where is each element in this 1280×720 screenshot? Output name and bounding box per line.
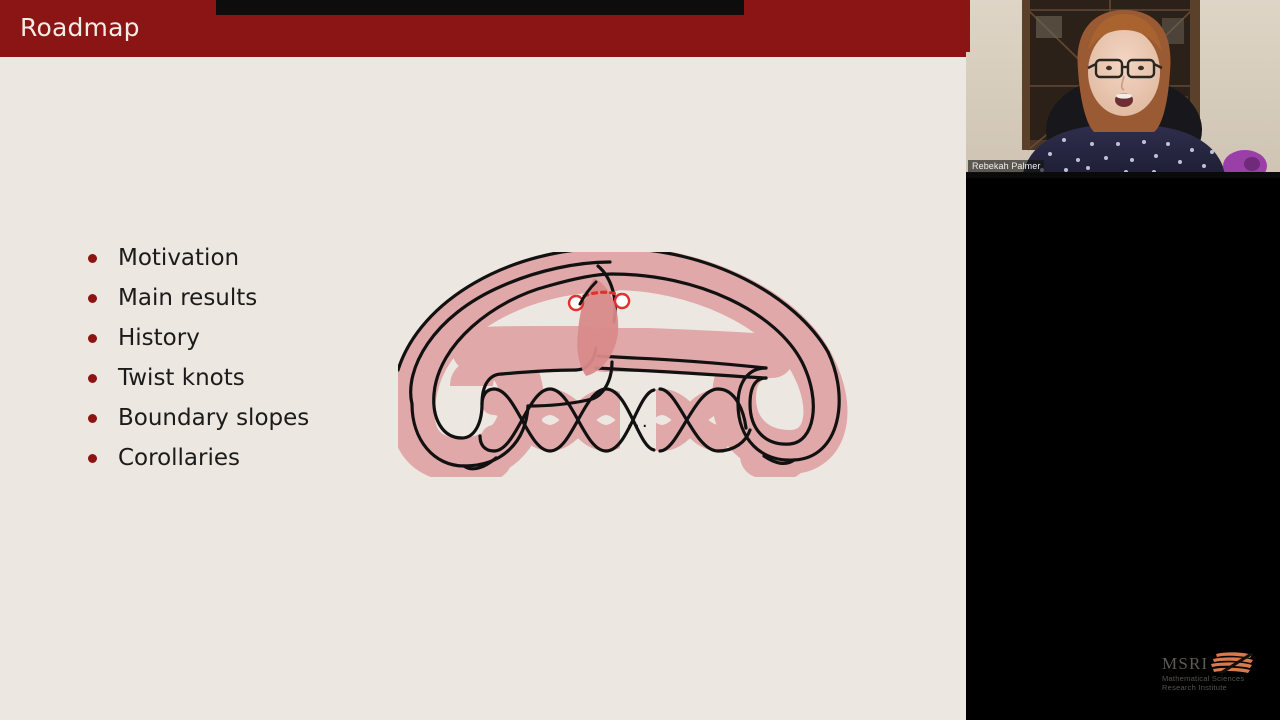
bullet-dot-icon xyxy=(88,414,97,423)
list-item: Motivation xyxy=(88,238,408,278)
msri-wordmark: MSRI xyxy=(1162,654,1208,674)
webcam-panel: Rebekah Palmer xyxy=(966,0,1280,720)
page-title: Roadmap xyxy=(20,13,140,42)
list-item: Corollaries xyxy=(88,438,408,478)
msri-subtitle-line2: Research Institute xyxy=(1162,683,1227,692)
msri-subtitle-line1: Mathematical Sciences xyxy=(1162,674,1244,683)
bullet-label: History xyxy=(118,327,200,350)
msri-logo: MSRI Mathematical Sciences Research Inst… xyxy=(1162,652,1272,694)
list-item: Boundary slopes xyxy=(88,398,408,438)
bullet-dot-icon xyxy=(88,454,97,463)
msri-mark-icon xyxy=(1210,652,1254,674)
bullet-label: Boundary slopes xyxy=(118,407,309,430)
list-item: Main results xyxy=(88,278,408,318)
screen: Roadmap Motivation Main results History … xyxy=(0,0,1280,720)
top-black-bar xyxy=(216,0,744,15)
bullet-dot-icon xyxy=(88,294,97,303)
bullet-dot-icon xyxy=(88,254,97,263)
bullet-label: Twist knots xyxy=(118,367,245,390)
bullet-label: Corollaries xyxy=(118,447,240,470)
bullet-dot-icon xyxy=(88,374,97,383)
list-item: Twist knots xyxy=(88,358,408,398)
presentation-slide: Roadmap Motivation Main results History … xyxy=(0,0,966,720)
twist-ellipsis: ... xyxy=(626,411,649,432)
twist-knot-figure: ... xyxy=(398,252,868,477)
bullet-label: Motivation xyxy=(118,247,239,270)
bullet-label: Main results xyxy=(118,287,257,310)
bullet-dot-icon xyxy=(88,334,97,343)
participant-name-label: Rebekah Palmer xyxy=(968,160,1044,173)
webcam-video-feed[interactable] xyxy=(966,0,1280,178)
roadmap-bullet-list: Motivation Main results History Twist kn… xyxy=(88,238,408,478)
list-item: History xyxy=(88,318,408,358)
